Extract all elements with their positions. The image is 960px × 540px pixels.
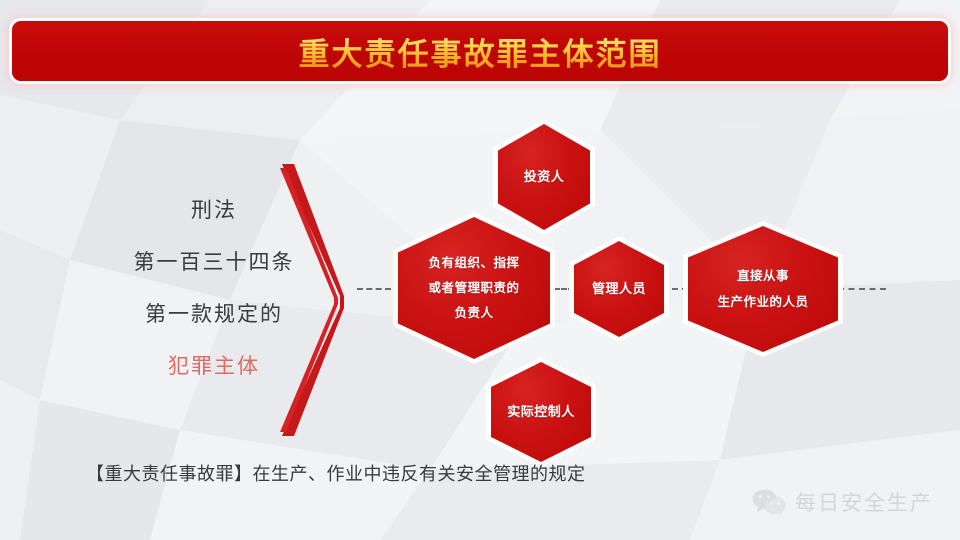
hex-line-1: 负有组织、指挥 [428,251,519,276]
page-title: 重大责任事故罪主体范围 [299,29,662,74]
bottom-caption: 【重大责任事故罪】在生产、作业中违反有关安全管理的规定 [86,460,586,486]
title-banner: 重大责任事故罪主体范围 [12,21,948,81]
hex-node-actual-controller-label: 实际控制人 [501,402,581,422]
watermark: 每日安全生产 [752,487,933,517]
hex-node-management-staff-label: 管理人员 [586,279,652,299]
hex-line-3: 负责人 [428,301,519,326]
connector-dash-right [838,288,886,290]
red-chevron-icon [278,160,344,440]
hex-node-responsible-person-label: 负有组织、指挥 或者管理职责的 负责人 [422,251,525,326]
slide-canvas: 重大责任事故罪主体范围 刑法 第一百三十四条 第一款规定的 犯罪主体 投资人 负… [0,0,960,540]
hex-line-2: 生产作业的人员 [717,289,808,315]
wechat-icon [752,489,786,516]
watermark-label: 每日安全生产 [795,487,933,517]
connector-dash-left [357,288,391,290]
hex-line-1: 直接从事 [717,263,808,289]
hex-line-2: 或者管理职责的 [428,276,519,301]
hex-node-production-staff-label: 直接从事 生产作业的人员 [711,263,814,316]
hex-node-investor-label: 投资人 [518,167,571,187]
